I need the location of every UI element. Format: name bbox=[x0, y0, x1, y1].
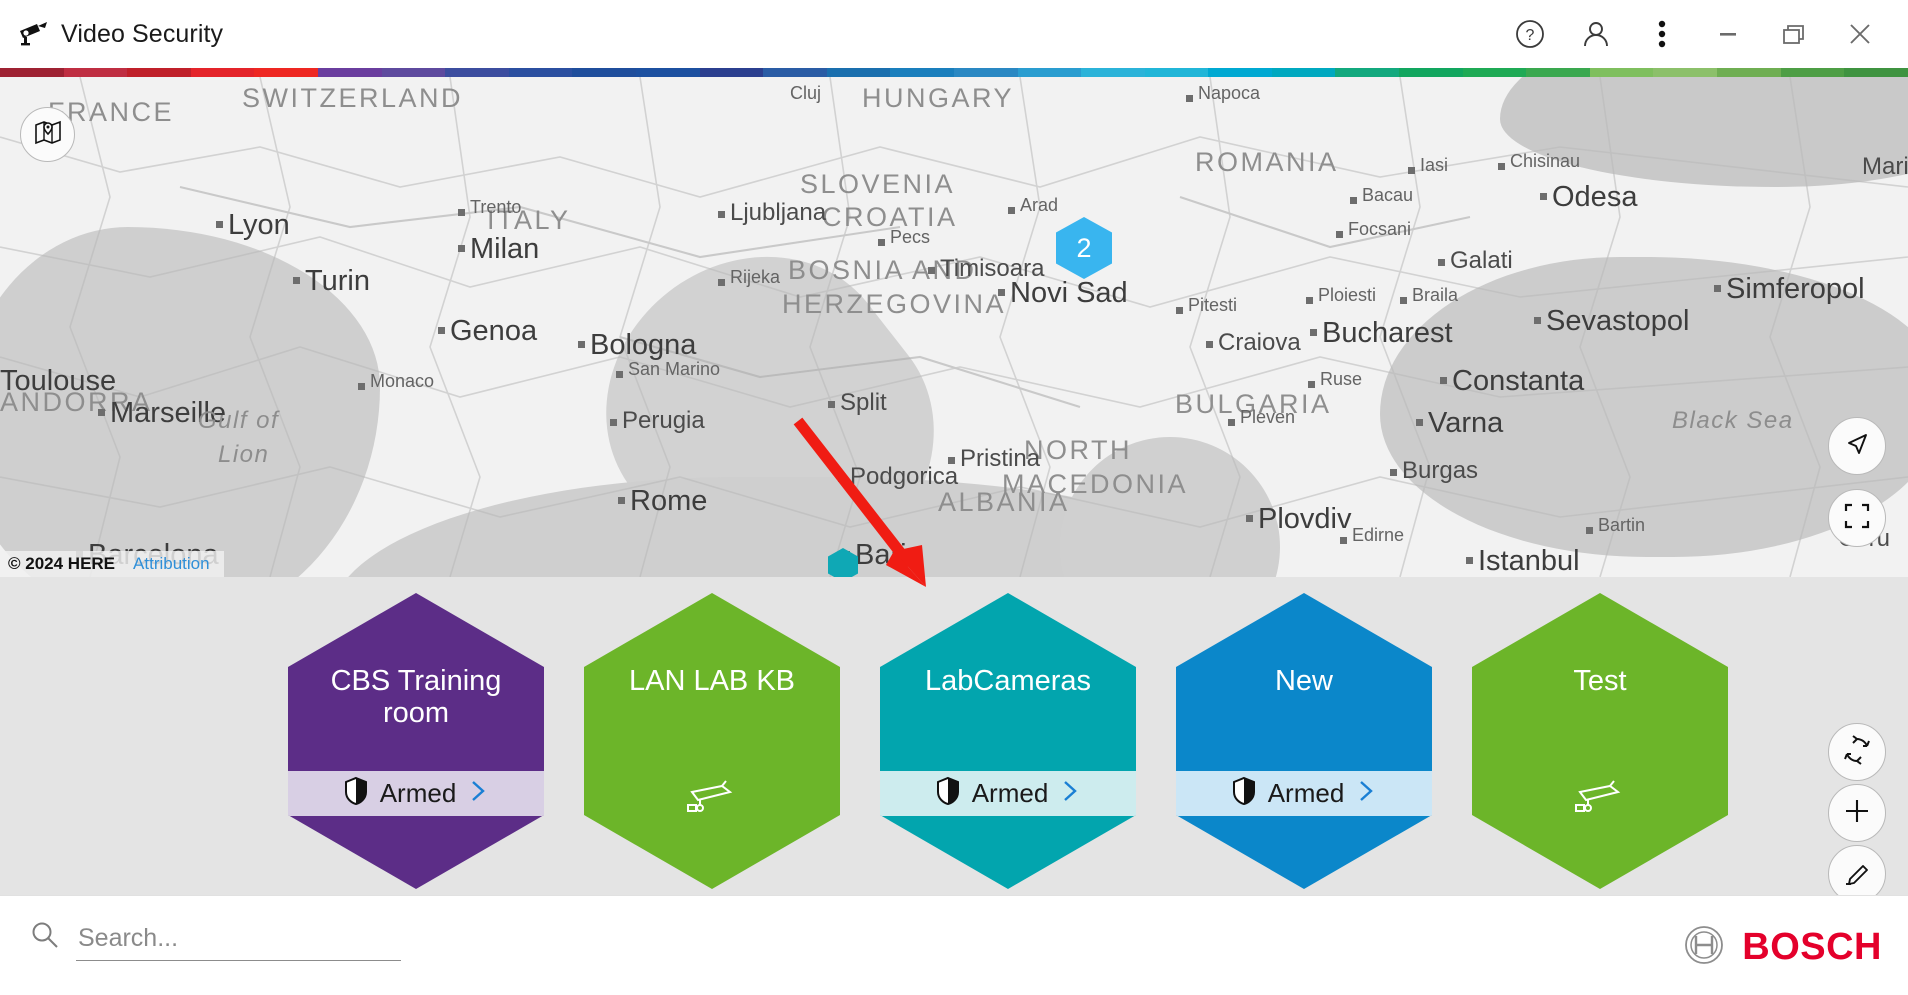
accent-strip-segment-27 bbox=[1717, 68, 1781, 77]
map-city-dot bbox=[1586, 527, 1593, 534]
accent-strip-segment-3 bbox=[191, 68, 255, 77]
accent-strip-segment-26 bbox=[1653, 68, 1717, 77]
map-city-dot bbox=[878, 239, 885, 246]
map-city-dot bbox=[358, 383, 365, 390]
accent-strip-segment-6 bbox=[382, 68, 446, 77]
title-bar: Video Security ? bbox=[0, 0, 1908, 68]
map-city-dot bbox=[1498, 163, 1505, 170]
bottom-bar: Search BOSCH bbox=[0, 895, 1908, 995]
map-city-dot bbox=[293, 277, 300, 284]
map-city-dot bbox=[1336, 231, 1343, 238]
accent-strip-segment-11 bbox=[700, 68, 764, 77]
map-city-dot bbox=[948, 457, 955, 464]
site-armed-bar[interactable]: Armed bbox=[880, 771, 1136, 816]
site-name-label: New bbox=[1190, 665, 1418, 697]
map-city-dot bbox=[1416, 419, 1423, 426]
accent-strip-segment-2 bbox=[127, 68, 191, 77]
chevron-right-icon[interactable] bbox=[1355, 778, 1377, 809]
map-city-dot bbox=[1540, 193, 1547, 200]
map-city-dot bbox=[838, 475, 845, 482]
map-view[interactable]: FRANCESWITZERLANDITALYSLOVENIACROATIAHUN… bbox=[0, 77, 1908, 577]
accent-strip-segment-20 bbox=[1272, 68, 1336, 77]
attribution-link[interactable]: Attribution bbox=[133, 554, 210, 574]
map-city-dot bbox=[578, 341, 585, 348]
site-armed-label: Armed bbox=[380, 778, 457, 809]
map-city-dot bbox=[1228, 419, 1235, 426]
site-hex-tile[interactable]: LabCamerasArmed bbox=[880, 593, 1136, 889]
accent-strip-segment-19 bbox=[1208, 68, 1272, 77]
accent-strip-segment-9 bbox=[572, 68, 636, 77]
refresh-icon bbox=[1842, 735, 1872, 770]
shield-icon bbox=[1231, 776, 1257, 811]
accent-strip-segment-7 bbox=[445, 68, 509, 77]
video-security-window: Video Security ? bbox=[0, 0, 1908, 995]
title-bar-left: Video Security bbox=[0, 20, 223, 49]
shield-icon bbox=[343, 776, 369, 811]
window-controls: ? bbox=[1510, 14, 1908, 54]
locate-button[interactable] bbox=[1828, 417, 1886, 475]
map-city-dot bbox=[1310, 329, 1317, 336]
chevron-right-icon[interactable] bbox=[1059, 778, 1081, 809]
map-city-dot bbox=[216, 221, 223, 228]
accent-strip-segment-16 bbox=[1018, 68, 1082, 77]
site-armed-bar[interactable]: Armed bbox=[288, 771, 544, 816]
chevron-right-icon[interactable] bbox=[467, 778, 489, 809]
map-city-dot bbox=[1340, 537, 1347, 544]
attribution-copyright: © 2024 HERE bbox=[8, 554, 115, 574]
bosch-logo: BOSCH bbox=[1683, 924, 1882, 971]
accent-strip-segment-10 bbox=[636, 68, 700, 77]
map-city-dot bbox=[1714, 285, 1721, 292]
accent-strip-segment-28 bbox=[1781, 68, 1845, 77]
map-city-dot bbox=[1176, 307, 1183, 314]
bosch-symbol-icon bbox=[1683, 924, 1725, 971]
map-city-dot bbox=[458, 245, 465, 252]
map-road-network bbox=[0, 77, 1908, 577]
site-name-label: LabCameras bbox=[894, 665, 1122, 697]
camera-outline-icon bbox=[686, 778, 738, 823]
map-city-dot bbox=[1008, 207, 1015, 214]
accent-strip-segment-0 bbox=[0, 68, 64, 77]
shield-icon bbox=[935, 776, 961, 811]
map-city-dot bbox=[1534, 317, 1541, 324]
fullscreen-frame-icon bbox=[1843, 502, 1871, 535]
site-armed-label: Armed bbox=[1268, 778, 1345, 809]
map-pin-icon bbox=[33, 117, 63, 152]
more-menu-button[interactable] bbox=[1642, 14, 1682, 54]
map-cluster-marker[interactable]: 2 bbox=[1056, 217, 1112, 279]
svg-text:?: ? bbox=[1526, 27, 1535, 44]
accent-strip-segment-8 bbox=[509, 68, 573, 77]
map-city-dot bbox=[1350, 197, 1357, 204]
pencil-icon bbox=[1842, 857, 1872, 892]
accent-strip-segment-22 bbox=[1399, 68, 1463, 77]
map-city-dot bbox=[610, 419, 617, 426]
accent-strip-segment-18 bbox=[1145, 68, 1209, 77]
sites-panel: CBS Training roomArmedLAN LAB KBLabCamer… bbox=[0, 585, 1908, 895]
map-city-dot bbox=[1206, 341, 1213, 348]
accent-strip-segment-25 bbox=[1590, 68, 1654, 77]
map-city-dot bbox=[1440, 377, 1447, 384]
accent-strip-segment-12 bbox=[763, 68, 827, 77]
map-attribution: © 2024 HERE Attribution bbox=[0, 551, 224, 577]
map-city-dot bbox=[1390, 469, 1397, 476]
map-city-dot bbox=[1400, 297, 1407, 304]
bosch-wordmark: BOSCH bbox=[1742, 926, 1882, 969]
account-button[interactable] bbox=[1576, 14, 1616, 54]
site-hex-tile[interactable]: LAN LAB KB bbox=[584, 593, 840, 889]
accent-strip-segment-14 bbox=[890, 68, 954, 77]
plus-icon bbox=[1842, 796, 1872, 831]
minimize-button[interactable] bbox=[1708, 14, 1748, 54]
add-button[interactable] bbox=[1828, 784, 1886, 842]
site-armed-label: Armed bbox=[972, 778, 1049, 809]
accent-strip-segment-24 bbox=[1526, 68, 1590, 77]
search-icon bbox=[30, 920, 60, 961]
map-city-dot bbox=[1306, 297, 1313, 304]
accent-strip-segment-4 bbox=[254, 68, 318, 77]
accent-strip-segment-1 bbox=[64, 68, 128, 77]
help-button[interactable]: ? bbox=[1510, 14, 1550, 54]
refresh-button[interactable] bbox=[1828, 723, 1886, 781]
accent-strip-segment-17 bbox=[1081, 68, 1145, 77]
search-input[interactable] bbox=[76, 924, 401, 961]
site-armed-bar[interactable]: Armed bbox=[1176, 771, 1432, 816]
map-city-dot bbox=[98, 409, 105, 416]
map-city-dot bbox=[438, 327, 445, 334]
video-camera-icon bbox=[18, 22, 48, 46]
cluster-count: 2 bbox=[1076, 233, 1091, 264]
map-city-dot bbox=[1246, 515, 1253, 522]
map-city-dot bbox=[998, 289, 1005, 296]
fit-to-view-button[interactable] bbox=[1828, 489, 1886, 547]
search-box bbox=[30, 920, 401, 961]
site-hex-tile[interactable]: Test bbox=[1472, 593, 1728, 889]
site-hex-tile[interactable]: NewArmed bbox=[1176, 593, 1432, 889]
brand-accent-strip bbox=[0, 68, 1908, 77]
accent-strip-segment-23 bbox=[1463, 68, 1527, 77]
map-city-dot bbox=[828, 401, 835, 408]
site-name-label: Test bbox=[1486, 665, 1714, 697]
map-city-dot bbox=[1308, 381, 1315, 388]
map-city-dot bbox=[458, 209, 465, 216]
map-city-dot bbox=[928, 267, 935, 274]
accent-strip-segment-5 bbox=[318, 68, 382, 77]
map-city-dot bbox=[616, 371, 623, 378]
map-tiles: FRANCESWITZERLANDITALYSLOVENIACROATIAHUN… bbox=[0, 77, 1908, 577]
site-name-label: LAN LAB KB bbox=[598, 665, 826, 697]
map-city-dot bbox=[1408, 167, 1415, 174]
map-layers-button[interactable] bbox=[20, 107, 75, 162]
map-city-dot bbox=[1466, 557, 1473, 564]
map-city-dot bbox=[618, 497, 625, 504]
accent-strip-segment-21 bbox=[1335, 68, 1399, 77]
accent-strip-segment-29 bbox=[1844, 68, 1908, 77]
site-hex-list: CBS Training roomArmedLAN LAB KBLabCamer… bbox=[288, 593, 1728, 889]
navigation-arrow-icon bbox=[1842, 429, 1872, 464]
map-city-dot bbox=[718, 211, 725, 218]
site-name-label: CBS Training room bbox=[302, 665, 530, 730]
page-title: Video Security bbox=[61, 20, 223, 49]
close-button[interactable] bbox=[1840, 14, 1880, 54]
accent-strip-segment-13 bbox=[827, 68, 891, 77]
map-city-dot bbox=[1438, 259, 1445, 266]
restore-window-button[interactable] bbox=[1774, 14, 1814, 54]
accent-strip-segment-15 bbox=[954, 68, 1018, 77]
map-city-dot bbox=[1186, 95, 1193, 102]
camera-outline-icon bbox=[1574, 778, 1626, 823]
site-hex-tile[interactable]: CBS Training roomArmed bbox=[288, 593, 544, 889]
map-city-dot bbox=[718, 279, 725, 286]
